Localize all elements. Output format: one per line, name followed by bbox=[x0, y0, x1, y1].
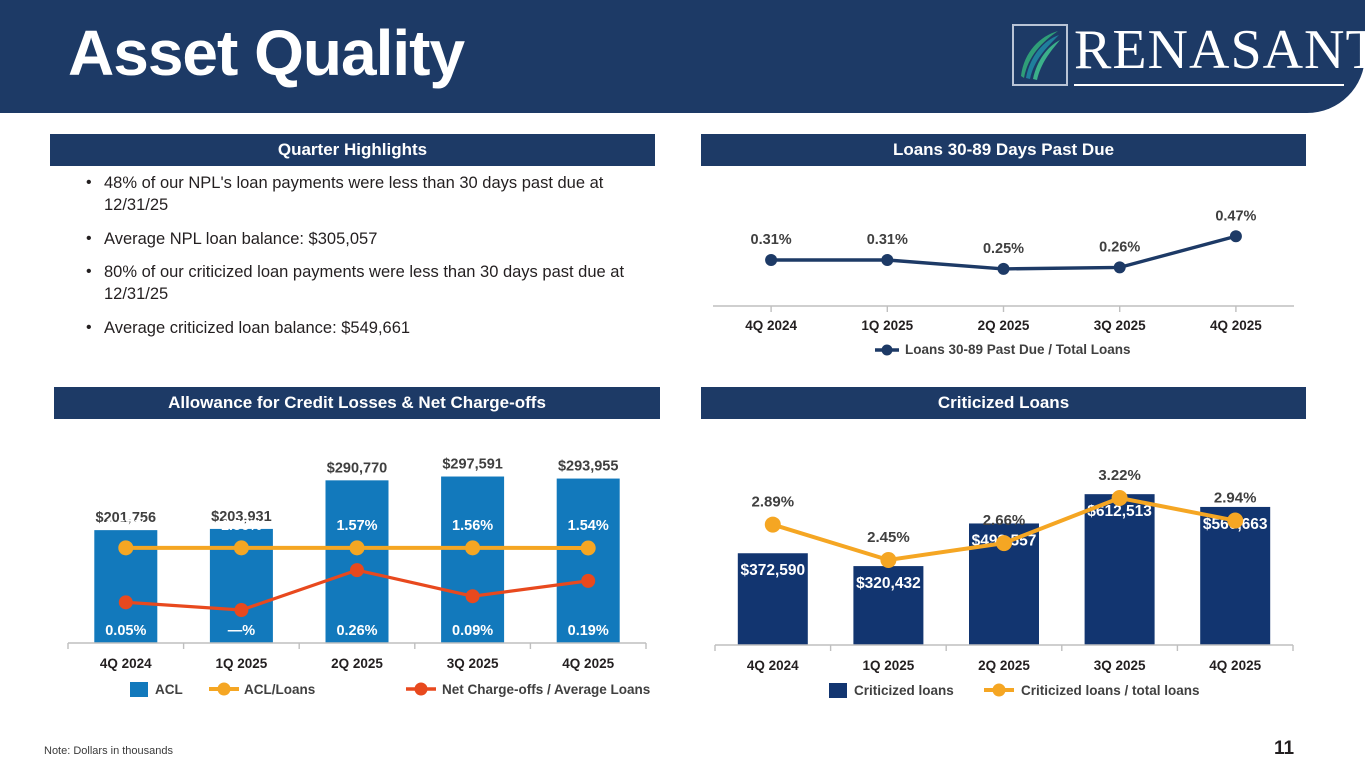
data-point bbox=[1114, 261, 1126, 273]
data-point-label: 0.25% bbox=[983, 241, 1024, 257]
x-axis-label: 4Q 2025 bbox=[1210, 318, 1262, 333]
x-axis-label: 4Q 2024 bbox=[745, 318, 797, 333]
data-point-label: 0.26% bbox=[1099, 239, 1140, 255]
legend-label: Criticized loans / total loans bbox=[1021, 683, 1200, 698]
acl-loans-label: 1.54% bbox=[568, 518, 609, 534]
acl-chart-header: Allowance for Credit Losses & Net Charge… bbox=[54, 387, 660, 419]
legend-marker bbox=[415, 683, 428, 696]
legend-label: ACL bbox=[155, 682, 183, 697]
logo-underline bbox=[1074, 84, 1344, 86]
bar-value-label: $320,432 bbox=[856, 575, 921, 592]
bar-value-label: $372,590 bbox=[740, 562, 805, 579]
data-point bbox=[1227, 513, 1243, 529]
net-chargeoffs-label: 0.05% bbox=[105, 623, 146, 639]
x-axis-label: 2Q 2025 bbox=[978, 658, 1030, 673]
legend-label: Criticized loans bbox=[854, 683, 954, 698]
legend-swatch bbox=[829, 683, 847, 698]
data-point bbox=[998, 263, 1010, 275]
data-point bbox=[581, 541, 596, 556]
data-point bbox=[1112, 490, 1128, 506]
logo-wordmark: RENASANT bbox=[1074, 22, 1365, 78]
chart-legend: ACLACL/LoansNet Charge-offs / Average Lo… bbox=[130, 682, 650, 697]
data-point bbox=[880, 552, 896, 568]
list-item: 80% of our criticized loan payments were… bbox=[60, 262, 660, 306]
data-point-label: 0.31% bbox=[867, 232, 908, 248]
past-due-chart-header: Loans 30-89 Days Past Due bbox=[701, 134, 1306, 166]
legend-swatch bbox=[130, 682, 148, 697]
x-axis-label: 4Q 2025 bbox=[1209, 658, 1261, 673]
list-item: 48% of our NPL's loan payments were less… bbox=[60, 173, 660, 217]
criticized-ratio-label: 3.22% bbox=[1098, 467, 1141, 484]
net-chargeoffs-label: 0.09% bbox=[452, 623, 493, 639]
net-chargeoffs-label: 0.26% bbox=[336, 623, 377, 639]
data-point bbox=[465, 540, 480, 555]
legend-label: ACL/Loans bbox=[244, 682, 315, 697]
legend-marker bbox=[218, 683, 231, 696]
page-number: 11 bbox=[1274, 738, 1294, 760]
criticized-chart-header: Criticized Loans bbox=[701, 387, 1306, 419]
data-point bbox=[1230, 230, 1242, 242]
data-point bbox=[118, 540, 133, 555]
bar bbox=[557, 479, 620, 643]
net-chargeoffs-label: 0.19% bbox=[568, 623, 609, 639]
data-point bbox=[350, 540, 365, 555]
list-item: Average criticized loan balance: $549,66… bbox=[60, 318, 660, 340]
data-point bbox=[466, 589, 480, 603]
loans-past-due-line-chart: 0.31%0.31%0.25%0.26%0.47%4Q 20241Q 20252… bbox=[701, 176, 1306, 376]
list-item: Average NPL loan balance: $305,057 bbox=[60, 229, 660, 251]
criticized-ratio-label: 2.45% bbox=[867, 529, 910, 546]
acl-loans-label: 1.56% bbox=[452, 518, 493, 534]
data-point-label: 0.31% bbox=[751, 232, 792, 248]
bar-value-label: $293,955 bbox=[558, 459, 618, 475]
data-point bbox=[350, 563, 364, 577]
data-point bbox=[581, 574, 595, 588]
x-axis-label: 4Q 2024 bbox=[100, 656, 152, 671]
legend-label: Loans 30-89 Past Due / Total Loans bbox=[905, 342, 1131, 357]
bar-value-label: $297,591 bbox=[442, 457, 502, 473]
footnote: Note: Dollars in thousands bbox=[44, 745, 173, 757]
data-point bbox=[996, 535, 1012, 551]
data-point bbox=[119, 595, 133, 609]
allowance-credit-losses-chart: $201,756$203,931$290,770$297,591$293,955… bbox=[54, 430, 660, 710]
data-point-label: 0.47% bbox=[1215, 208, 1256, 224]
acl-loans-label: 1.57% bbox=[105, 518, 146, 534]
x-axis-label: 4Q 2025 bbox=[562, 656, 614, 671]
quarter-highlights-list: 48% of our NPL's loan payments were less… bbox=[60, 173, 660, 352]
legend-marker bbox=[993, 684, 1006, 697]
x-axis-label: 1Q 2025 bbox=[863, 658, 915, 673]
criticized-ratio-label: 2.94% bbox=[1214, 490, 1257, 507]
chart-legend: Loans 30-89 Past Due / Total Loans bbox=[875, 342, 1131, 357]
x-axis-label: 1Q 2025 bbox=[216, 656, 268, 671]
x-axis-label: 3Q 2025 bbox=[1094, 658, 1146, 673]
data-point bbox=[881, 254, 893, 266]
page-title: Asset Quality bbox=[68, 18, 464, 88]
chart-legend: Criticized loansCriticized loans / total… bbox=[829, 683, 1200, 698]
x-axis-label: 3Q 2025 bbox=[447, 656, 499, 671]
bar bbox=[441, 477, 504, 643]
bar-value-label: $290,770 bbox=[327, 460, 387, 476]
legend-marker bbox=[882, 345, 893, 356]
data-point bbox=[234, 603, 248, 617]
x-axis-label: 1Q 2025 bbox=[861, 318, 913, 333]
bar bbox=[326, 480, 389, 643]
legend-label: Net Charge-offs / Average Loans bbox=[442, 682, 650, 697]
x-axis-label: 4Q 2024 bbox=[747, 658, 799, 673]
criticized-ratio-label: 2.89% bbox=[752, 494, 795, 511]
data-point bbox=[765, 254, 777, 266]
net-chargeoffs-label: —% bbox=[228, 623, 256, 639]
quarter-highlights-header: Quarter Highlights bbox=[50, 134, 655, 166]
x-axis-label: 2Q 2025 bbox=[978, 318, 1030, 333]
x-axis-label: 2Q 2025 bbox=[331, 656, 383, 671]
acl-loans-label: 1.56% bbox=[221, 518, 262, 534]
criticized-loans-chart: $372,590$320,432$493,557$612,513$560,663… bbox=[701, 430, 1306, 710]
renasant-swoosh-mark-icon bbox=[1012, 24, 1068, 86]
data-point bbox=[765, 517, 781, 533]
slide-header: Asset Quality RENASANT bbox=[0, 0, 1365, 113]
criticized-ratio-label: 2.66% bbox=[983, 512, 1026, 529]
x-axis-label: 3Q 2025 bbox=[1094, 318, 1146, 333]
renasant-logo: RENASANT bbox=[1012, 24, 1344, 90]
acl-loans-label: 1.57% bbox=[336, 518, 377, 534]
data-point bbox=[234, 540, 249, 555]
